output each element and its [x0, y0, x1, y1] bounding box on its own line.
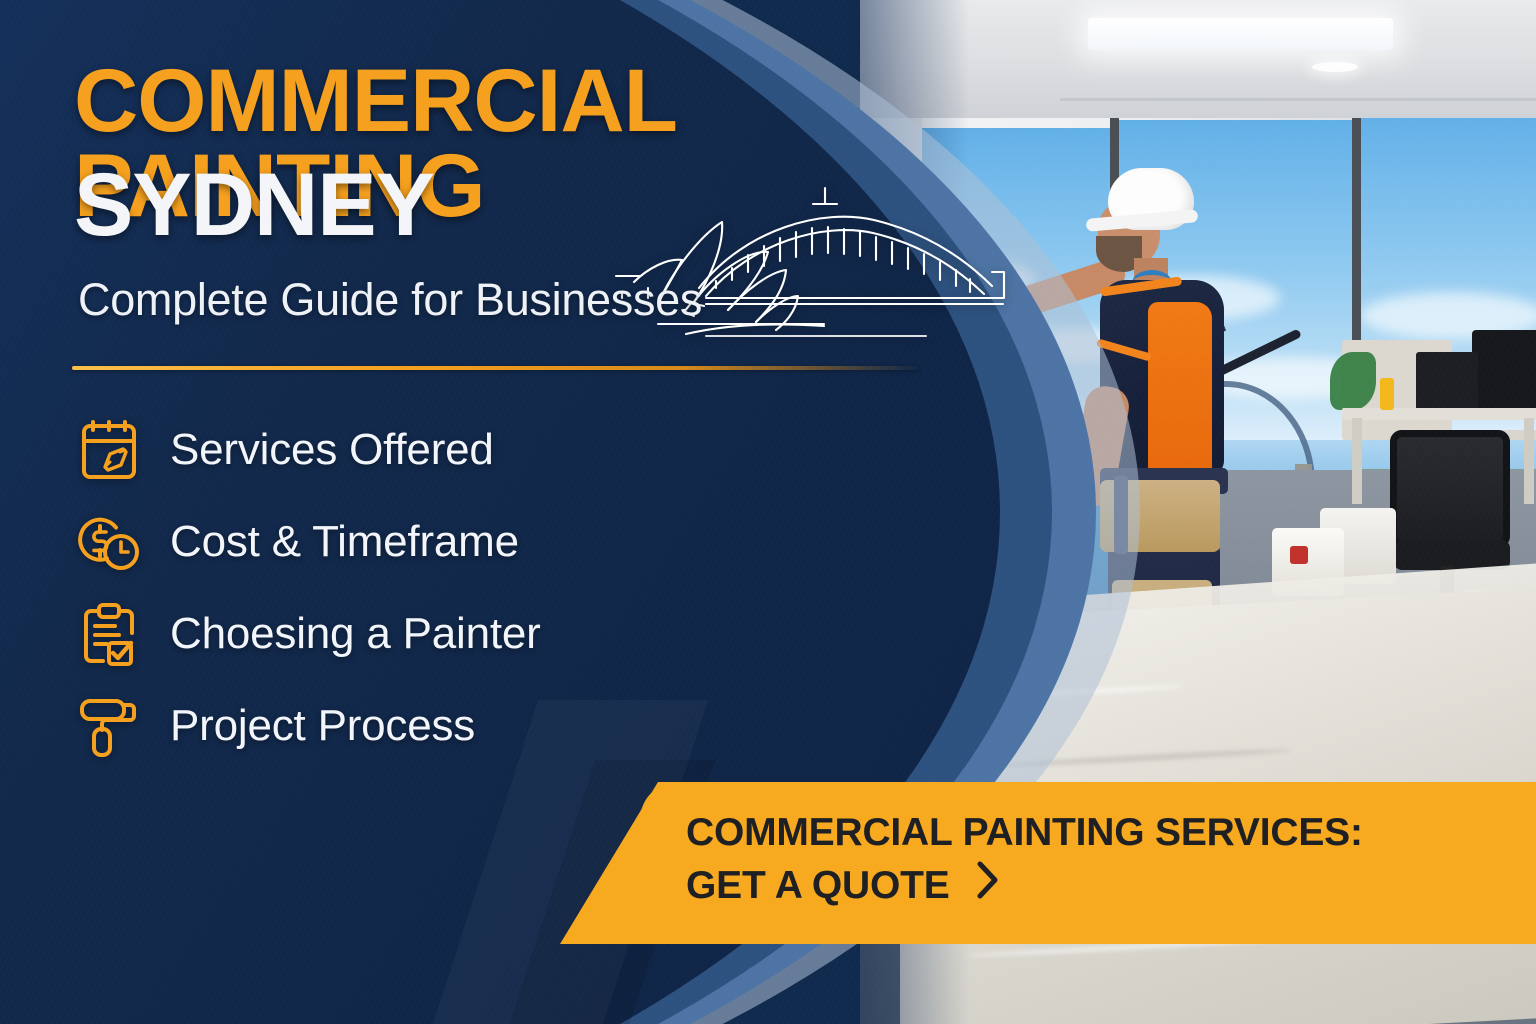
list-item-label: Cost & Timeframe: [170, 517, 519, 567]
subtitle: Complete Guide for Businesses: [78, 274, 702, 326]
list-item-cost-timeframe[interactable]: Cost & Timeframe: [74, 496, 694, 588]
chevron-right-icon[interactable]: [972, 858, 1002, 915]
list-item-label: Services Offered: [170, 425, 494, 475]
clipboard-checkmark-icon: [74, 599, 144, 669]
cta-banner[interactable]: COMMERCIAL PAINTING SERVICES: GET A QUOT…: [540, 782, 1536, 944]
cta-text: COMMERCIAL PAINTING SERVICES: GET A QUOT…: [686, 808, 1506, 915]
list-item-label: Choesing a Painter: [170, 609, 541, 659]
list-item-label: Project Process: [170, 701, 475, 751]
divider: [72, 366, 920, 370]
paint-roller-icon: [74, 691, 144, 761]
list-item-services-offered[interactable]: Services Offered: [74, 404, 694, 496]
cta-line-2: GET A QUOTE: [686, 861, 950, 911]
cta-line-1: COMMERCIAL PAINTING SERVICES:: [686, 808, 1506, 858]
list-item-project-process[interactable]: Project Process: [74, 680, 694, 772]
dollar-coin-clock-icon: [74, 507, 144, 577]
page-title-line2: SYDNEY: [74, 162, 434, 247]
feature-list: Services Offered Cost & Timeframe: [74, 404, 694, 772]
notepad-paintbrush-icon: [74, 415, 144, 485]
infographic-banner: COMMERCIAL PAINTING SYDNEY Complete Guid…: [0, 0, 1536, 1024]
list-item-choosing-a-painter[interactable]: Choesing a Painter: [74, 588, 694, 680]
